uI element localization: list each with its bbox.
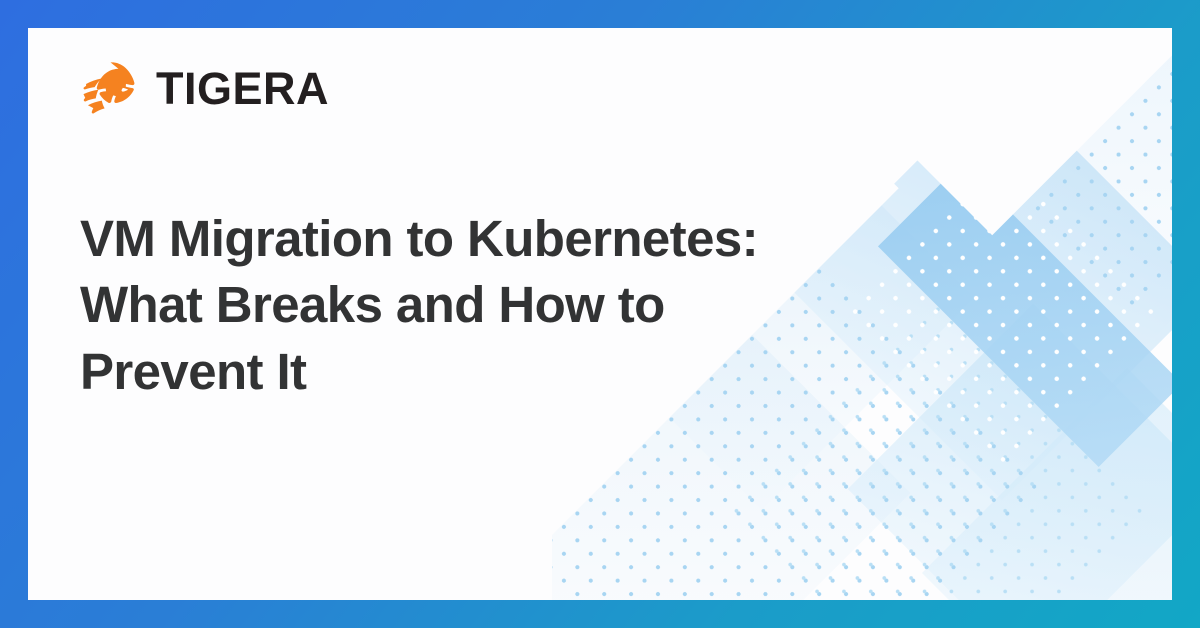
brand-lockup[interactable]: TIGERA (80, 60, 329, 116)
dot-field-top-right-icon (920, 28, 1172, 310)
brand-wordmark: TIGERA (156, 66, 329, 111)
diamond-band-accent (878, 163, 1172, 467)
mask-wedge-top (552, 28, 1172, 235)
card-canvas: TIGERA VM Migration to Kubernetes: What … (28, 28, 1172, 600)
page-title: VM Migration to Kubernetes: What Breaks … (80, 206, 890, 405)
diamond-shape-pale-top (955, 28, 1172, 360)
social-card: TIGERA VM Migration to Kubernetes: What … (0, 0, 1200, 628)
diamond-shape-mid-lower (848, 304, 1172, 600)
diamond-shape-pale-bottom (922, 368, 1172, 600)
tiger-head-icon (80, 60, 142, 116)
